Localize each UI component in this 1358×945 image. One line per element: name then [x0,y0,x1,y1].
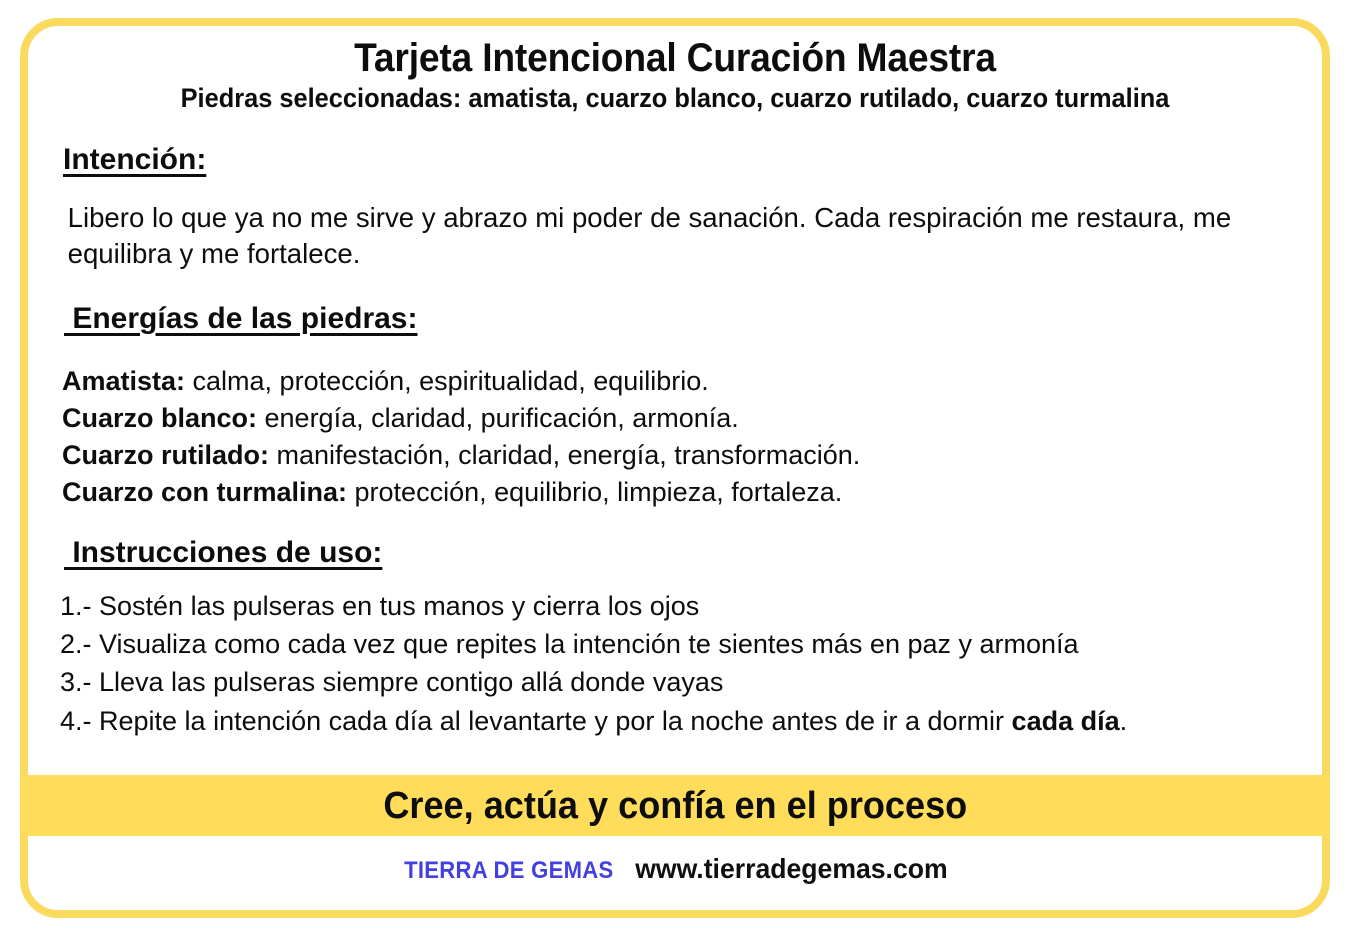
intention-text: Libero lo que ya no me sirve y abrazo mi… [42,200,1289,273]
list-item: 4.- Repite la intención cada día al leva… [60,702,1308,740]
step-text: 4.- Repite la intención cada día al leva… [60,706,1012,736]
list-item: Amatista: calma, protección, espirituali… [62,363,1308,400]
stone-properties: manifestación, claridad, energía, transf… [269,440,860,470]
list-item: 3.- Lleva las pulseras siempre contigo a… [60,663,1308,701]
intention-card: Tarjeta Intencional Curación Maestra Pie… [0,0,1358,945]
step-text: 3.- Lleva las pulseras siempre contigo a… [60,667,723,697]
stone-properties: protección, equilibrio, limpieza, fortal… [347,477,842,507]
instructions-list: 1.- Sostén las pulseras en tus manos y c… [42,587,1308,740]
stone-properties: energía, claridad, purificación, armonía… [257,403,739,433]
stone-energies-list: Amatista: calma, protección, espirituali… [42,363,1308,511]
step-text: 1.- Sostén las pulseras en tus manos y c… [60,591,699,621]
list-item: Cuarzo rutilado: manifestación, claridad… [62,437,1308,474]
step-text: 2.- Visualiza como cada vez que repites … [60,629,1079,659]
motto-band: Cree, actúa y confía en el proceso [20,775,1330,836]
section-heading-stone-energies: Energías de las piedras: [64,301,1308,337]
card-content-area: Tarjeta Intencional Curación Maestra Pie… [20,18,1330,740]
stone-name: Cuarzo con turmalina: [62,477,347,507]
step-emphasis: cada día [1012,706,1120,736]
list-item: Cuarzo con turmalina: protección, equili… [62,474,1308,511]
brand-name: TIERRA DE GEMAS [404,857,613,885]
page-title: Tarjeta Intencional Curación Maestra [86,36,1263,81]
footer: TIERRA DE GEMAS www.tierradegemas.com [20,850,1330,886]
brand-website-url: www.tierradegemas.com [635,852,947,886]
selected-stones-subtitle: Piedras seleccionadas: amatista, cuarzo … [80,83,1270,114]
stone-name: Cuarzo blanco: [62,403,257,433]
motto-text: Cree, actúa y confía en el proceso [383,787,967,825]
list-item: 2.- Visualiza como cada vez que repites … [60,625,1308,663]
list-item: Cuarzo blanco: energía, claridad, purifi… [62,400,1308,437]
step-tail: . [1120,706,1128,736]
section-heading-instructions: Instrucciones de uso: [64,535,1308,571]
card-body: Tarjeta Intencional Curación Maestra Pie… [20,18,1330,918]
stone-name: Amatista: [62,366,185,396]
list-item: 1.- Sostén las pulseras en tus manos y c… [60,587,1308,625]
section-heading-intention: Intención: [63,142,1308,178]
stone-properties: calma, protección, espiritualidad, equil… [185,366,709,396]
stone-name: Cuarzo rutilado: [62,440,269,470]
